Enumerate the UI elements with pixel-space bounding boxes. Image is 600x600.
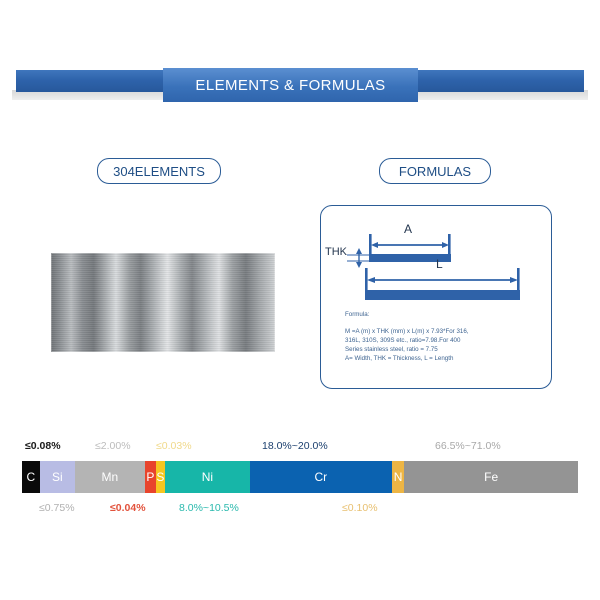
thk-label: THK — [325, 246, 347, 258]
segment-symbol: Ni — [202, 470, 213, 484]
composition-segment-cr: Cr — [250, 461, 392, 493]
lower-right-flange — [517, 268, 520, 290]
lower-left-flange — [365, 268, 368, 290]
segment-symbol: Si — [52, 470, 63, 484]
composition-bottom-label-2: 8.0%~10.5% — [179, 502, 239, 514]
composition-bottom-label-3: ≤0.10% — [342, 502, 378, 514]
formula-heading: Formula: — [345, 310, 537, 319]
composition-bar: CSiMnPSNiCrNFe — [22, 461, 578, 493]
l-label: L — [436, 257, 443, 271]
segment-symbol: N — [394, 470, 403, 484]
formula-line-3: Series stainless steel, ratio = 7.75 — [345, 345, 537, 354]
l-arrow-right — [510, 277, 518, 283]
composition-top-label-0: ≤0.08% — [25, 440, 61, 452]
segment-symbol: Cr — [314, 470, 327, 484]
thk-arrow-bottom — [356, 262, 362, 268]
composition-top-label-2: ≤0.03% — [156, 440, 192, 452]
composition-segment-si: Si — [40, 461, 75, 493]
upper-right-flange — [448, 234, 451, 254]
segment-symbol: P — [146, 470, 154, 484]
banner-center-panel: ELEMENTS & FORMULAS — [163, 68, 418, 102]
lower-plate-body — [365, 290, 520, 300]
segment-symbol: Fe — [484, 470, 498, 484]
formula-line-1: M =A (m) x THK (mm) x L(m) x 7.93*For 31… — [345, 327, 537, 336]
a-arrow-right — [442, 242, 449, 248]
formulas-section-label: FORMULAS — [379, 158, 491, 184]
upper-left-flange — [369, 234, 372, 254]
composition-segment-fe: Fe — [404, 461, 577, 493]
stainless-steel-texture-image — [51, 253, 275, 352]
formula-line-2: 316L, 310S, 309S etc., ratio=7.98.For 40… — [345, 336, 537, 345]
a-label: A — [404, 222, 412, 236]
composition-segment-c: C — [22, 461, 40, 493]
composition-segment-p: P — [145, 461, 156, 493]
segment-symbol: S — [156, 470, 164, 484]
formula-line-4: A= Width, THK = Thickness, L = Length — [345, 354, 537, 363]
composition-bottom-label-1: ≤0.04% — [110, 502, 146, 514]
composition-segment-ni: Ni — [165, 461, 250, 493]
composition-segment-s: S — [156, 461, 165, 493]
segment-symbol: Mn — [101, 470, 118, 484]
elements-section-label: 304ELEMENTS — [97, 158, 221, 184]
composition-top-label-4: 66.5%~71.0% — [435, 440, 501, 452]
formula-text-block: Formula: M =A (m) x THK (mm) x L(m) x 7.… — [345, 310, 537, 363]
composition-top-label-1: ≤2.00% — [95, 440, 131, 452]
composition-bottom-labels: ≤0.75%≤0.04%8.0%~10.5%≤0.10% — [22, 502, 578, 518]
composition-segment-mn: Mn — [75, 461, 145, 493]
page-banner: ELEMENTS & FORMULAS — [0, 68, 600, 110]
composition-chart: ≤0.08%≤2.00%≤0.03%18.0%~20.0%66.5%~71.0%… — [22, 440, 578, 518]
composition-bottom-label-0: ≤0.75% — [39, 502, 75, 514]
composition-top-labels: ≤0.08%≤2.00%≤0.03%18.0%~20.0%66.5%~71.0% — [22, 440, 578, 456]
composition-top-label-3: 18.0%~20.0% — [262, 440, 328, 452]
l-arrow-left — [367, 277, 375, 283]
page-title: ELEMENTS & FORMULAS — [195, 77, 385, 94]
formulas-panel: THK A L Formula: M =A (m) x THK (mm) x L… — [320, 205, 552, 389]
thk-arrow-top — [356, 248, 362, 254]
composition-segment-n: N — [392, 461, 405, 493]
segment-symbol: C — [27, 470, 36, 484]
a-arrow-left — [371, 242, 378, 248]
